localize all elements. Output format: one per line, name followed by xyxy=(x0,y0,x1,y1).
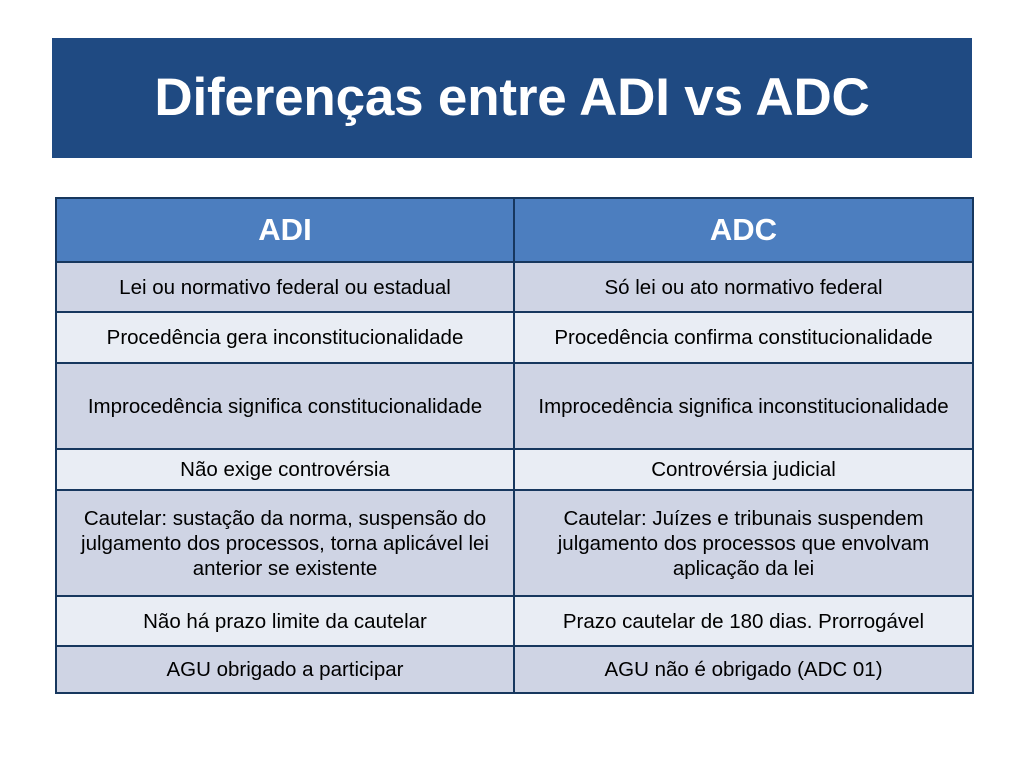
cell-adi: AGU obrigado a participar xyxy=(56,646,514,693)
cell-adc: Controvérsia judicial xyxy=(514,449,973,490)
cell-adc: Cautelar: Juízes e tribunais suspendem j… xyxy=(514,490,973,596)
cell-adi: Não há prazo limite da cautelar xyxy=(56,596,514,646)
table-row: Improcedência significa constitucionalid… xyxy=(56,363,973,449)
cell-adi: Não exige controvérsia xyxy=(56,449,514,490)
cell-adi: Procedência gera inconstitucionalidade xyxy=(56,312,514,363)
table-head: ADI ADC xyxy=(56,198,973,262)
table-row: Cautelar: sustação da norma, suspensão d… xyxy=(56,490,973,596)
table-row: AGU obrigado a participarAGU não é obrig… xyxy=(56,646,973,693)
comparison-table: ADI ADC Lei ou normativo federal ou esta… xyxy=(55,197,974,694)
page-title: Diferenças entre ADI vs ADC xyxy=(154,70,869,126)
cell-adi: Cautelar: sustação da norma, suspensão d… xyxy=(56,490,514,596)
cell-adc: Improcedência significa inconstitucional… xyxy=(514,363,973,449)
table-row: Não exige controvérsiaControvérsia judic… xyxy=(56,449,973,490)
column-header-adi: ADI xyxy=(56,198,514,262)
cell-adc: Só lei ou ato normativo federal xyxy=(514,262,973,312)
slide-canvas: Diferenças entre ADI vs ADC ADI ADC Lei … xyxy=(0,0,1024,768)
cell-adc: Procedência confirma constitucionalidade xyxy=(514,312,973,363)
table-row: Procedência gera inconstitucionalidadePr… xyxy=(56,312,973,363)
column-header-adc: ADC xyxy=(514,198,973,262)
table-row: Lei ou normativo federal ou estadualSó l… xyxy=(56,262,973,312)
cell-adi: Improcedência significa constitucionalid… xyxy=(56,363,514,449)
title-banner: Diferenças entre ADI vs ADC xyxy=(52,38,972,158)
cell-adc: Prazo cautelar de 180 dias. Prorrogável xyxy=(514,596,973,646)
cell-adi: Lei ou normativo federal ou estadual xyxy=(56,262,514,312)
table-row: Não há prazo limite da cautelarPrazo cau… xyxy=(56,596,973,646)
table-header-row: ADI ADC xyxy=(56,198,973,262)
cell-adc: AGU não é obrigado (ADC 01) xyxy=(514,646,973,693)
table-body: Lei ou normativo federal ou estadualSó l… xyxy=(56,262,973,693)
